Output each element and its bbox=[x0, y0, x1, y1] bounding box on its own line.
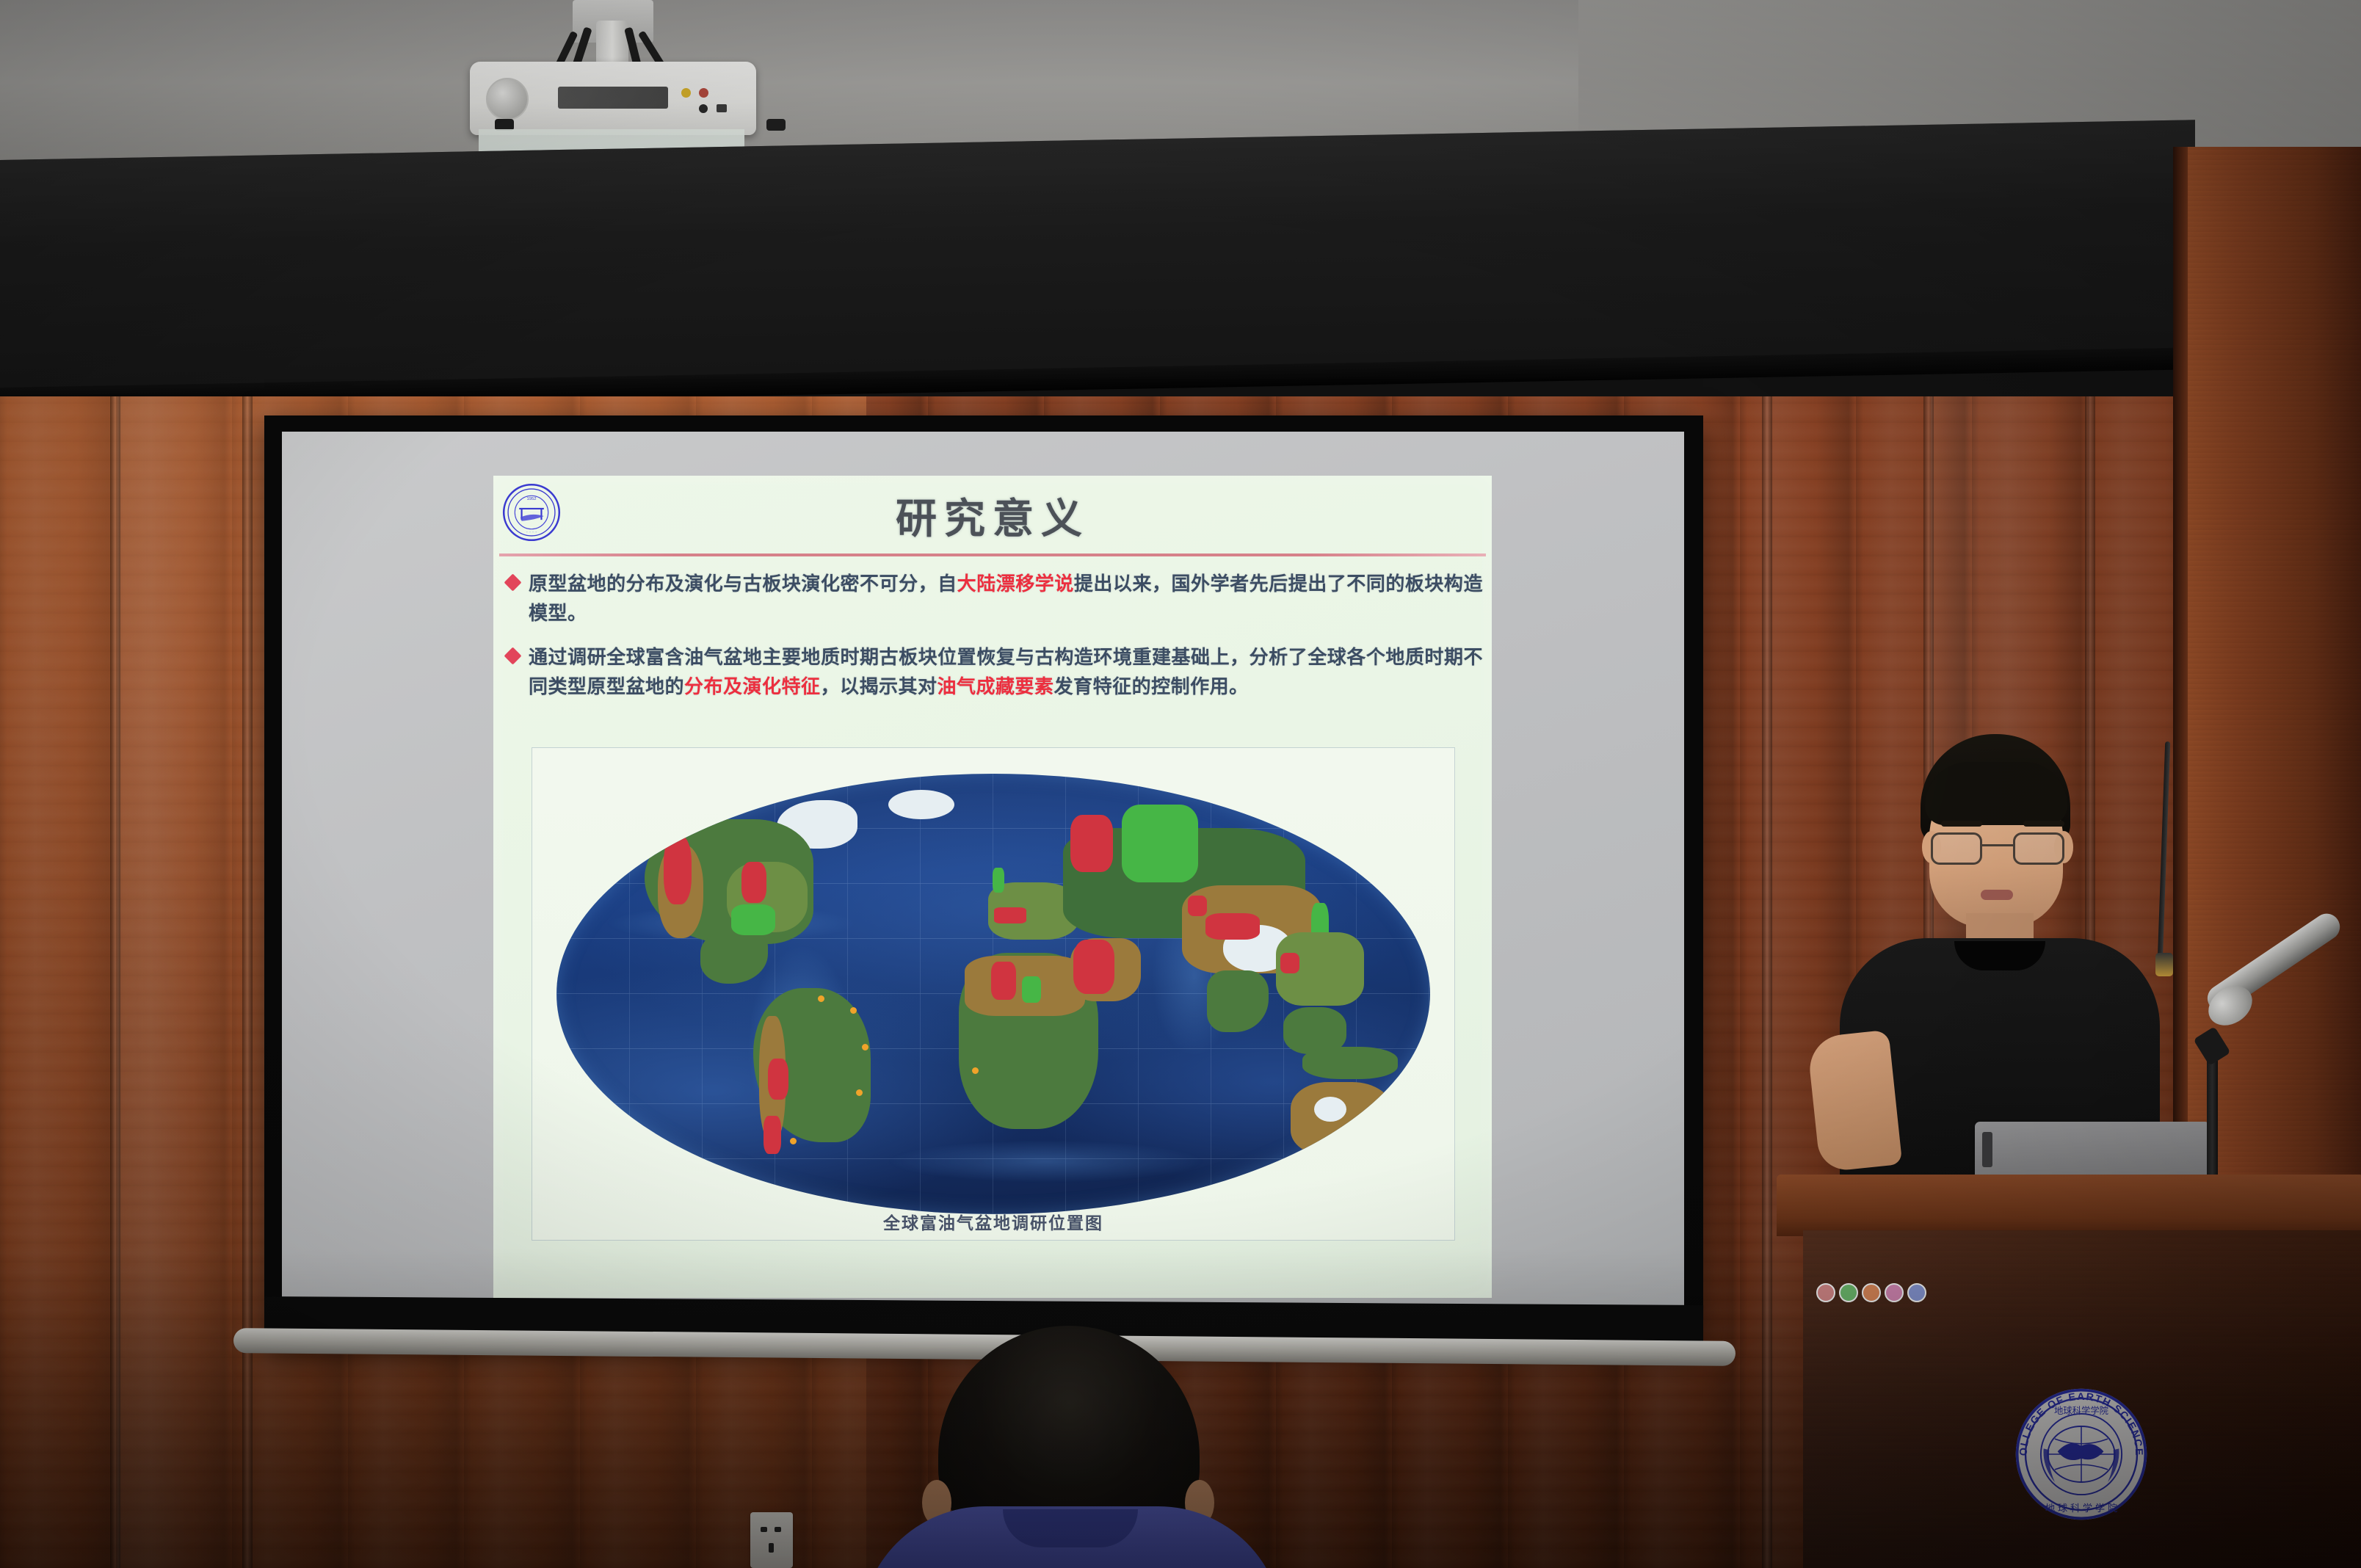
projector-port-yellow bbox=[681, 88, 691, 98]
basin-polygon-red bbox=[768, 1059, 788, 1100]
survey-marker-dot bbox=[790, 1138, 797, 1144]
basin-polygon-red bbox=[991, 962, 1016, 1000]
basin-polygon-green bbox=[1022, 976, 1041, 1003]
glasses-icon bbox=[1928, 832, 2067, 865]
wall-panel-seam bbox=[110, 396, 120, 1568]
glasses-bridge bbox=[1982, 844, 2013, 846]
basin-polygon-australia bbox=[1314, 1097, 1346, 1122]
college-emblem-icon: COLLEGE OF EARTH SCIENCES 地球科学学院 地 球 科 学… bbox=[2012, 1384, 2151, 1524]
laptop-hinge bbox=[1982, 1132, 1992, 1167]
world-basin-map: 全球富油气盆地调研位置图 bbox=[532, 747, 1455, 1241]
slide-title-divider bbox=[499, 553, 1486, 556]
audience-collar bbox=[1003, 1509, 1138, 1547]
basin-polygon-red bbox=[1070, 815, 1113, 872]
survey-marker-dot bbox=[850, 1007, 857, 1014]
projector-foot bbox=[766, 119, 786, 131]
podium-stickers bbox=[1816, 1283, 1926, 1302]
conference-room-scene: 1952 · · · · 研究意义 原型盆地的分布及演化与古板块演化密不可分，自… bbox=[0, 0, 2361, 1568]
projected-slide: 1952 · · · · 研究意义 原型盆地的分布及演化与古板块演化密不可分，自… bbox=[493, 476, 1492, 1298]
audience-member bbox=[859, 1326, 1285, 1568]
basin-polygon-red bbox=[1073, 940, 1114, 994]
basin-polygon-green bbox=[731, 904, 775, 935]
sticker-icon bbox=[1862, 1283, 1881, 1302]
projector-port-black bbox=[699, 104, 708, 113]
sticker-icon bbox=[1816, 1283, 1835, 1302]
presenter-mouth bbox=[1981, 890, 2013, 900]
wall-panel-seam bbox=[1762, 396, 1772, 1568]
cable-connector bbox=[2155, 953, 2173, 976]
landmass-indonesia bbox=[1302, 1047, 1398, 1079]
sticker-icon bbox=[1885, 1283, 1904, 1302]
projector-lens-icon bbox=[486, 78, 529, 120]
sticker-icon bbox=[1839, 1283, 1858, 1302]
landmass-arctic bbox=[888, 790, 954, 819]
presenter-arm bbox=[1807, 1030, 1903, 1173]
projector-port-red bbox=[699, 88, 708, 98]
basin-polygon-red bbox=[1205, 913, 1260, 940]
diamond-bullet-icon bbox=[504, 647, 521, 664]
svg-text:地球科学学院: 地球科学学院 bbox=[2054, 1405, 2108, 1416]
map-caption: 全球富油气盆地调研位置图 bbox=[532, 1209, 1454, 1234]
projector-vent bbox=[558, 87, 668, 109]
presenter-fringe bbox=[1925, 762, 2067, 825]
basin-polygon-red bbox=[1188, 896, 1207, 916]
wall-power-outlet[interactable] bbox=[750, 1512, 793, 1568]
slide-title: 研究意义 bbox=[493, 486, 1492, 545]
diamond-bullet-icon bbox=[504, 573, 521, 591]
basin-polygon-green bbox=[993, 868, 1004, 893]
outlet-slot bbox=[761, 1527, 767, 1532]
podium-top-surface bbox=[1777, 1175, 2361, 1236]
projector-port-usb bbox=[717, 104, 727, 112]
presenter-eyebrow-right bbox=[2023, 821, 2064, 827]
basin-polygon-green bbox=[1122, 805, 1198, 882]
outlet-slot bbox=[769, 1543, 774, 1553]
basin-polygon-red bbox=[741, 862, 766, 903]
podium: COLLEGE OF EARTH SCIENCES 地球科学学院 地 球 科 学… bbox=[1777, 1175, 2361, 1568]
presenter-eyebrow-left bbox=[1941, 821, 1982, 827]
wall-panel-seam bbox=[242, 396, 253, 1568]
survey-marker-dot bbox=[862, 1044, 868, 1050]
survey-marker-dot bbox=[972, 1067, 979, 1074]
landmass-australia bbox=[1291, 1082, 1393, 1155]
slide-bullet-list: 原型盆地的分布及演化与古板块演化密不可分，自大陆漂移学说提出以来，国外学者先后提… bbox=[504, 570, 1483, 716]
basin-polygon-red bbox=[1280, 953, 1299, 973]
globe-projection bbox=[556, 774, 1430, 1214]
landmass-new-zealand bbox=[1405, 1145, 1430, 1180]
projector-body bbox=[470, 62, 756, 135]
survey-marker-dot bbox=[818, 995, 824, 1002]
basin-polygon-red bbox=[764, 1116, 781, 1154]
basin-polygon-red bbox=[664, 835, 692, 904]
sticker-icon bbox=[1907, 1283, 1926, 1302]
bullet-text-2: 通过调研全球富含油气盆地主要地质时期古板块位置恢复与古构造环境重建基础上，分析了… bbox=[529, 643, 1483, 702]
glasses-lens-left bbox=[1931, 832, 1982, 865]
glasses-lens-right bbox=[2013, 832, 2064, 865]
microphone-stand[interactable] bbox=[2207, 1042, 2218, 1195]
outlet-slot bbox=[775, 1527, 781, 1532]
basin-polygon-red bbox=[994, 907, 1026, 923]
bullet-text-1: 原型盆地的分布及演化与古板块演化密不可分，自大陆漂移学说提出以来，国外学者先后提… bbox=[529, 570, 1483, 628]
bullet-item-2: 通过调研全球富含油气盆地主要地质时期古板块位置恢复与古构造环境重建基础上，分析了… bbox=[504, 643, 1483, 702]
svg-text:地 球 科 学 学 院: 地 球 科 学 学 院 bbox=[2045, 1503, 2117, 1514]
survey-marker-dot bbox=[856, 1089, 863, 1096]
bullet-item-1: 原型盆地的分布及演化与古板块演化密不可分，自大陆漂移学说提出以来，国外学者先后提… bbox=[504, 570, 1483, 628]
